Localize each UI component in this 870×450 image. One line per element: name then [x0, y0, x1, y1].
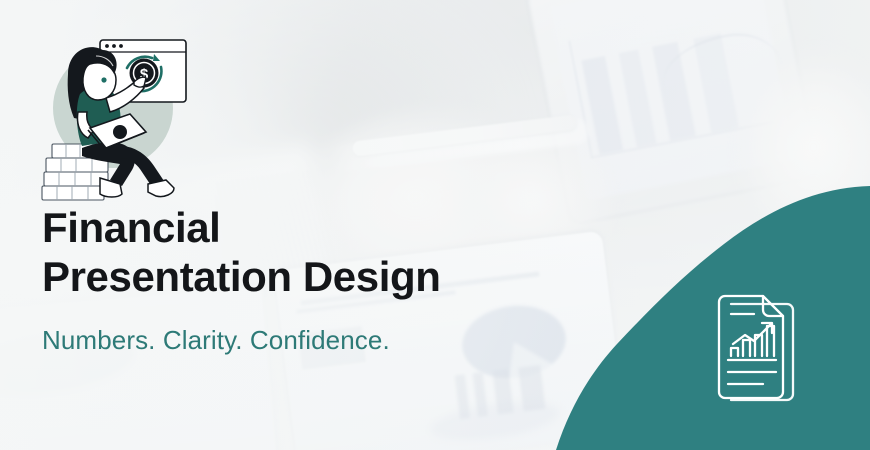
document-icon-svg	[707, 290, 809, 410]
financial-presentation-banner: $	[0, 0, 870, 450]
document-bar-2	[743, 340, 750, 356]
financial-report-document-icon	[707, 290, 809, 410]
page-title: Financial Presentation Design	[42, 203, 562, 301]
laptop-screen-dot	[113, 125, 127, 139]
browser-dot-3	[119, 44, 123, 48]
browser-dot-2	[112, 44, 116, 48]
browser-dot-1	[105, 44, 109, 48]
copy-block: Financial Presentation Design Numbers. C…	[42, 203, 562, 356]
illustration-svg: $	[34, 28, 194, 203]
document-trend-line	[733, 324, 771, 344]
woman-with-laptop-illustration: $	[34, 28, 194, 203]
woman-eye	[101, 77, 106, 82]
woman-shoes	[100, 178, 174, 197]
document-bar-1	[731, 348, 738, 356]
page-subtitle: Numbers. Clarity. Confidence.	[42, 301, 562, 356]
